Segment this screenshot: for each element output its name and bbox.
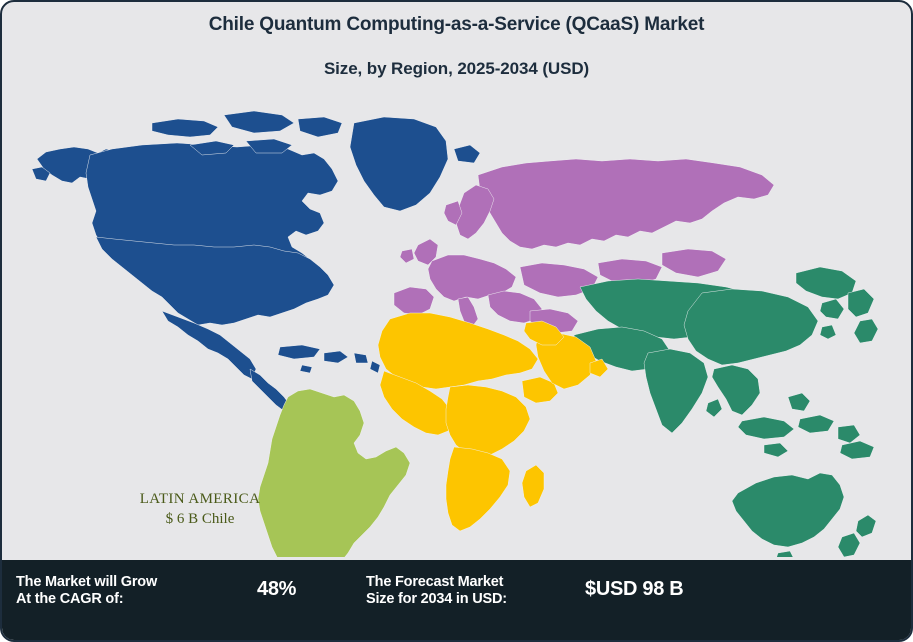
world-map-container: LATIN AMERICA $ 6 B Chile (2, 97, 913, 557)
cagr-label: The Market will Grow At the CAGR of: (16, 574, 157, 608)
forecast-size-value: $USD 98 B (585, 578, 683, 601)
page-subtitle: Size, by Region, 2025-2034 (USD) (2, 56, 911, 82)
footer-bar: The Market will Grow At the CAGR of: 48%… (2, 560, 913, 640)
page-title: Chile Quantum Computing-as-a-Service (QC… (2, 12, 911, 38)
map-region-middle-east-africa[interactable] (378, 313, 608, 531)
title-block: Chile Quantum Computing-as-a-Service (QC… (2, 12, 911, 82)
forecast-size-label: The Forecast Market Size for 2034 in USD… (366, 574, 507, 608)
map-region-asia-pacific[interactable] (574, 267, 878, 557)
map-region-latin-america[interactable] (258, 389, 410, 557)
cagr-value: 48% (257, 578, 296, 601)
world-map (2, 97, 913, 557)
infographic-card: Chile Quantum Computing-as-a-Service (QC… (0, 0, 913, 642)
